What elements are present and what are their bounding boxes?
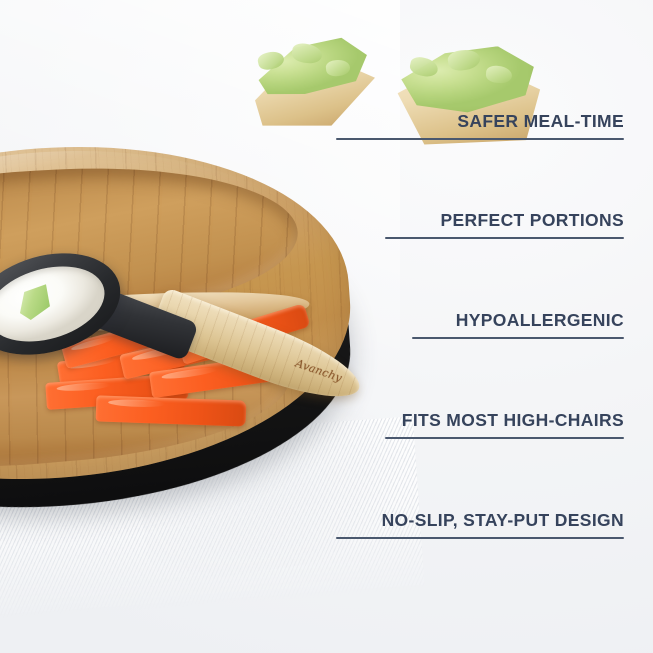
feature-label: NO-SLIP, STAY-PUT DESIGN — [332, 511, 624, 530]
feature-underline — [336, 138, 624, 140]
feature-label: FITS MOST HIGH-CHAIRS — [332, 411, 624, 430]
bamboo-baby-spoon: Avanchy — [0, 252, 346, 462]
feature-underline — [336, 537, 624, 539]
feature-underline — [385, 437, 624, 439]
feature-item-no-slip-stay-put-design: NO-SLIP, STAY-PUT DESIGN — [332, 511, 624, 539]
feature-item-hypoallergenic: HYPOALLERGENIC — [332, 311, 624, 339]
product-feature-image: Avanchy SAFER MEAL-TIMEPERFECT PORTIONSH… — [0, 0, 653, 653]
feature-label: PERFECT PORTIONS — [332, 211, 624, 230]
feature-item-fits-most-high-chairs: FITS MOST HIGH-CHAIRS — [332, 411, 624, 439]
feature-list: SAFER MEAL-TIMEPERFECT PORTIONSHYPOALLER… — [333, 0, 653, 653]
feature-item-safer-meal-time: SAFER MEAL-TIME — [332, 112, 624, 140]
feature-underline — [385, 237, 624, 239]
spoon-bowl — [0, 237, 132, 371]
yogurt-in-spoon — [0, 254, 113, 354]
feature-label: SAFER MEAL-TIME — [332, 112, 624, 131]
feature-item-perfect-portions: PERFECT PORTIONS — [332, 211, 624, 239]
feature-label: HYPOALLERGENIC — [332, 311, 624, 330]
feature-underline — [412, 337, 624, 339]
